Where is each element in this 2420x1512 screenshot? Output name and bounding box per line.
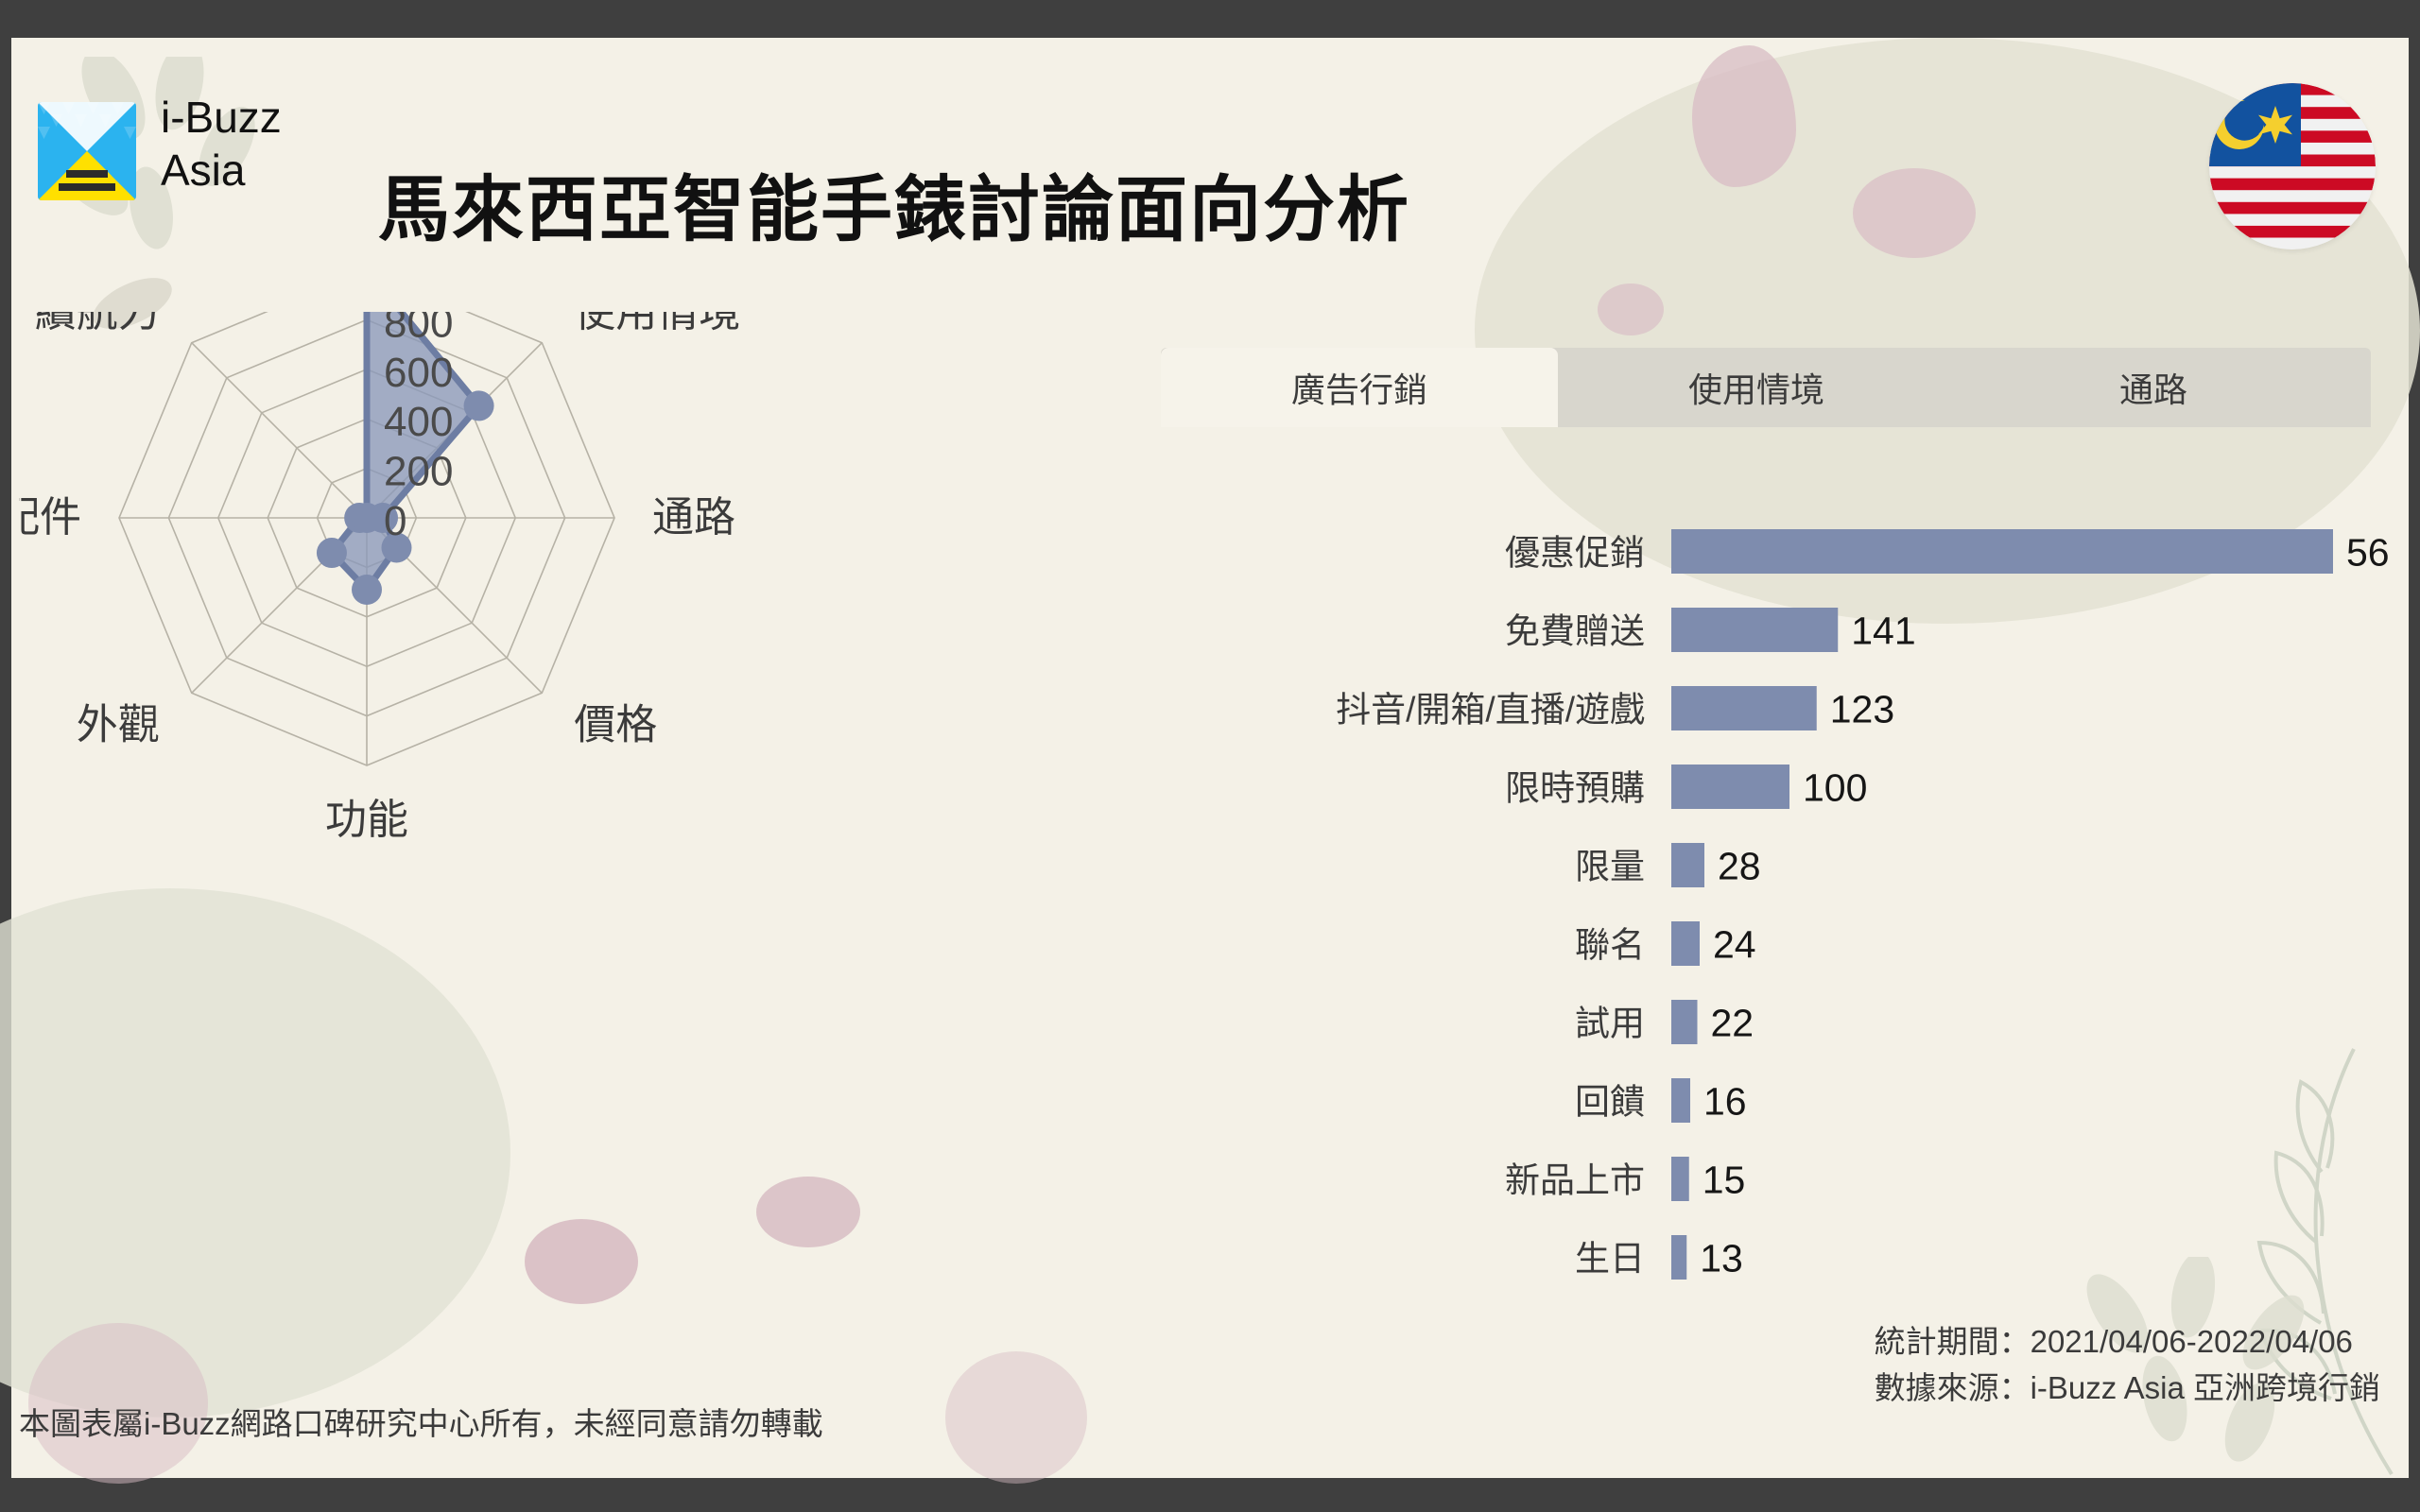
radar-tick-label: 0: [384, 498, 406, 544]
bar-rect[interactable]: [1671, 765, 1789, 809]
bottom-bar: [0, 1478, 2420, 1512]
bar-rect[interactable]: [1671, 1000, 1698, 1044]
tab-label: 廣告行銷: [1291, 363, 1427, 412]
bar-value-label: 13: [1700, 1237, 1743, 1280]
category-tabs[interactable]: 廣告行銷 使用情境 通路: [1161, 348, 2371, 427]
bar-category-label: 聯名: [1575, 926, 1645, 965]
bar-rect[interactable]: [1671, 1157, 1689, 1201]
bar-rect[interactable]: [1671, 921, 1700, 966]
radar-axis-label-1: 使用情境: [574, 312, 740, 335]
data-source-value: i-Buzz Asia 亞洲跨境行銷: [2031, 1370, 2380, 1405]
radar-axis-label-2: 通路: [652, 494, 735, 541]
decorative-blob-pink: [1598, 283, 1664, 335]
statistics-period-value: 2021/04/06-2022/04/06: [2031, 1324, 2353, 1359]
page-title: 馬來西亞智能手錶討論面向分析: [378, 165, 1702, 256]
brand-line-2: Asia: [161, 144, 282, 197]
bar-value-label: 24: [1713, 923, 1756, 967]
bar-category-label: 限時預購: [1505, 769, 1645, 808]
bar-chart: 優惠促銷560免費贈送141抖音/開箱/直播/遊戲123限時預購100限量28聯…: [1161, 529, 2390, 1314]
tab-channel[interactable]: 通路: [1955, 348, 2352, 427]
bar-category-label: 抖音/開箱/直播/遊戲: [1336, 691, 1645, 730]
radar-chart: 02004006008001,000廣告行銷使用情境通路價格功能外觀配件續航力: [19, 312, 1144, 1323]
bar-category-label: 優惠促銷: [1505, 534, 1645, 573]
copyright-notice: 本圖表屬i-Buzz網路口碑研究中心所有，未經同意請勿轉載: [19, 1399, 823, 1444]
data-source-label: 數據來源：: [1875, 1370, 2031, 1405]
statistics-period: 統計期間：2021/04/06-2022/04/06: [1875, 1318, 2380, 1365]
bar-chart-canvas: 優惠促銷560免費贈送141抖音/開箱/直播/遊戲123限時預購100限量28聯…: [1161, 529, 2390, 1314]
brand-line-1: i-Buzz: [161, 91, 282, 144]
brand-logo[interactable]: i-Buzz Asia: [38, 94, 350, 227]
tab-usage-scenario[interactable]: 使用情境: [1558, 348, 1955, 427]
bar-rect[interactable]: [1671, 1078, 1690, 1123]
bar-value-label: 123: [1830, 688, 1894, 731]
right-edge-bar: [2409, 38, 2420, 1478]
bar-rect[interactable]: [1671, 529, 2333, 574]
bar-category-label: 限量: [1575, 848, 1645, 886]
radar-tick-label: 200: [384, 449, 453, 495]
bar-category-label: 生日: [1575, 1240, 1645, 1279]
bar-rect[interactable]: [1671, 843, 1704, 887]
tab-label: 使用情境: [1688, 363, 1824, 412]
radar-axis-label-5: 外觀: [77, 701, 160, 747]
bar-category-label: 新品上市: [1505, 1161, 1645, 1200]
bar-value-label: 15: [1703, 1159, 1746, 1202]
bar-rect[interactable]: [1671, 686, 1817, 730]
radar-tick-label: 800: [384, 312, 453, 346]
radar-chart-canvas: 02004006008001,000廣告行銷使用情境通路價格功能外觀配件續航力: [19, 312, 1144, 1323]
bar-value-label: 16: [1703, 1080, 1747, 1124]
bar-value-label: 22: [1711, 1002, 1754, 1045]
bar-value-label: 28: [1718, 845, 1761, 888]
data-source: 數據來源：i-Buzz Asia 亞洲跨境行銷: [1875, 1365, 2380, 1411]
left-edge-bar: [0, 38, 11, 1478]
radar-tick-label: 600: [384, 350, 453, 396]
footer-meta: 統計期間：2021/04/06-2022/04/06 數據來源：i-Buzz A…: [1875, 1318, 2380, 1411]
bar-category-label: 免費贈送: [1505, 612, 1645, 651]
bar-value-label: 100: [1803, 766, 1867, 810]
decorative-blob-pink: [1692, 45, 1796, 187]
bar-rect[interactable]: [1671, 1235, 1686, 1280]
radar-axis-label-4: 功能: [325, 797, 408, 843]
ibuzz-bee-logo-icon: [38, 102, 136, 200]
bar-category-label: 試用: [1575, 1005, 1645, 1043]
decorative-blob-pink: [1853, 168, 1976, 258]
top-bar: [0, 0, 2420, 38]
decorative-blob-pink: [945, 1351, 1087, 1484]
bar-value-label: 141: [1851, 610, 1915, 653]
bar-value-label: 560: [2346, 531, 2390, 575]
bar-rect[interactable]: [1671, 608, 1838, 652]
tab-strip-filler: [2352, 348, 2371, 427]
tab-label: 通路: [2119, 363, 2187, 412]
brand-name: i-Buzz Asia: [161, 91, 282, 197]
bar-category-label: 回饋: [1575, 1083, 1645, 1122]
radar-axis-label-6: 配件: [19, 494, 81, 541]
radar-tick-label: 400: [384, 399, 453, 445]
radar-axis-label-3: 價格: [574, 701, 657, 747]
radar-axis-label-7: 續航力: [35, 312, 160, 335]
statistics-period-label: 統計期間：: [1875, 1324, 2031, 1359]
tab-advertising-marketing[interactable]: 廣告行銷: [1161, 348, 1558, 427]
malaysia-flag-icon: [2209, 83, 2376, 249]
